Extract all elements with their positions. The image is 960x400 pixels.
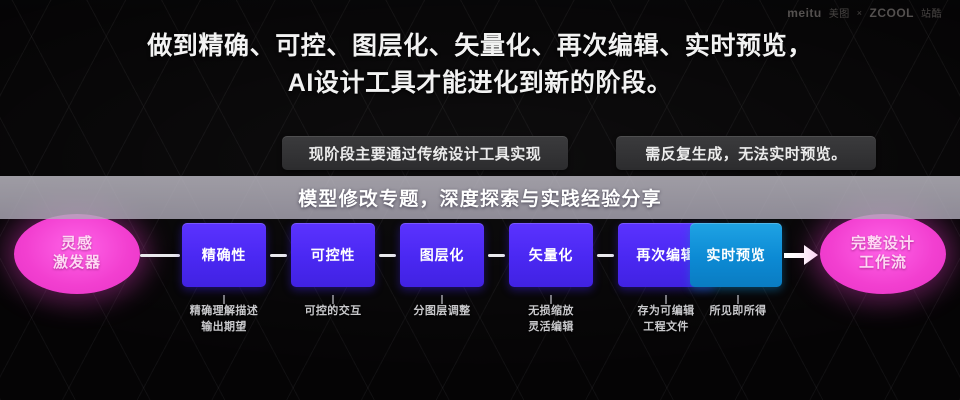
caption-stub-5 — [737, 295, 739, 304]
watermark-separator-icon: × — [857, 8, 863, 18]
flow-step-实时预览: 实时预览 — [690, 223, 782, 287]
flow-caption-0: 精确理解描述 输出期望 — [174, 304, 274, 336]
caption-stub-2 — [441, 295, 443, 304]
flow-caption-0-line1: 精确理解描述 — [190, 305, 258, 317]
flow-caption-5-line1: 所见即所得 — [710, 305, 767, 317]
arrow-shaft — [784, 253, 806, 258]
flow-caption-5: 所见即所得 — [688, 304, 788, 320]
watermark-brand-zcool: ZCOOL — [870, 6, 915, 20]
headline: 做到精确、可控、图层化、矢量化、再次编辑、实时预览， AI设计工具才能进化到新的… — [0, 30, 960, 100]
arrow-head — [804, 245, 818, 265]
flow-step-可控性: 可控性 — [291, 223, 375, 287]
flow-caption-2: 分图层调整 — [392, 304, 492, 320]
flow-step-label-2: 图层化 — [420, 245, 464, 265]
flow-caption-0-line2: 输出期望 — [174, 320, 274, 336]
flow-step-label-5: 实时预览 — [706, 245, 765, 265]
flow-caption-1: 可控的交互 — [283, 304, 383, 320]
flow-caption-3-line1: 无损缩放 — [528, 305, 574, 317]
flow-diagram: 灵感 激发器 精确性 可控性 图层化 矢量化 再次编辑 实时预览 — [0, 214, 960, 296]
connector-dash-3 — [597, 254, 614, 257]
flow-caption-3: 无损缩放 灵活编辑 — [501, 304, 601, 336]
watermark-brand-zcool-cn: 站酷 — [921, 5, 942, 20]
headline-line-1: 做到精确、可控、图层化、矢量化、再次编辑、实时预览， — [0, 30, 960, 63]
flow-caption-row: 精确理解描述 输出期望 可控的交互 分图层调整 无损缩放 灵活编辑 存为可编辑 … — [0, 304, 960, 352]
caption-stub-0 — [223, 295, 225, 304]
caption-stub-3 — [550, 295, 552, 304]
callout-box-right: 需反复生成，无法实时预览。 — [616, 136, 876, 170]
overlay-title-band: 模型修改专题，深度探索与实践经验分享 — [0, 176, 960, 219]
connector-line-start — [140, 254, 180, 257]
slide-canvas: meitu 美图 × ZCOOL 站酷 做到精确、可控、图层化、矢量化、再次编辑… — [0, 0, 960, 400]
connector-dash-1 — [379, 254, 396, 257]
flow-node-end-line2: 工作流 — [859, 254, 907, 273]
flow-step-label-3: 矢量化 — [529, 245, 573, 265]
flow-node-end-line1: 完整设计 — [851, 235, 915, 254]
arrow-icon-to-end — [784, 245, 818, 265]
flow-step-label-4: 再次编辑 — [636, 245, 695, 265]
flow-step-精确性: 精确性 — [182, 223, 266, 287]
page-title: 模型修改专题，深度探索与实践经验分享 — [298, 184, 662, 211]
flow-node-start-line2: 激发器 — [53, 254, 101, 273]
flow-node-start: 灵感 激发器 — [14, 214, 140, 294]
flow-caption-4-line2: 工程文件 — [616, 320, 716, 336]
flow-caption-4-line1: 存为可编辑 — [638, 305, 695, 317]
flow-caption-1-line1: 可控的交互 — [305, 305, 362, 317]
connector-dash-0 — [270, 254, 287, 257]
flow-step-label-0: 精确性 — [202, 245, 246, 265]
flow-caption-3-line2: 灵活编辑 — [501, 320, 601, 336]
watermark: meitu 美图 × ZCOOL 站酷 — [787, 5, 942, 20]
flow-step-矢量化: 矢量化 — [509, 223, 593, 287]
flow-node-start-line1: 灵感 — [61, 235, 93, 254]
flow-caption-2-line1: 分图层调整 — [414, 305, 471, 317]
caption-stub-1 — [332, 295, 334, 304]
callout-box-left: 现阶段主要通过传统设计工具实现 — [282, 136, 568, 170]
flow-step-图层化: 图层化 — [400, 223, 484, 287]
watermark-brand-meitu-cn: 美图 — [829, 5, 850, 20]
flow-step-label-1: 可控性 — [311, 245, 355, 265]
headline-line-2: AI设计工具才能进化到新的阶段。 — [0, 67, 960, 100]
flow-node-end: 完整设计 工作流 — [820, 214, 946, 294]
connector-dash-2 — [488, 254, 505, 257]
caption-stub-4 — [665, 295, 667, 304]
callout-box-row: 现阶段主要通过传统设计工具实现 需反复生成，无法实时预览。 — [0, 136, 960, 172]
watermark-brand-meitu: meitu — [787, 6, 822, 20]
